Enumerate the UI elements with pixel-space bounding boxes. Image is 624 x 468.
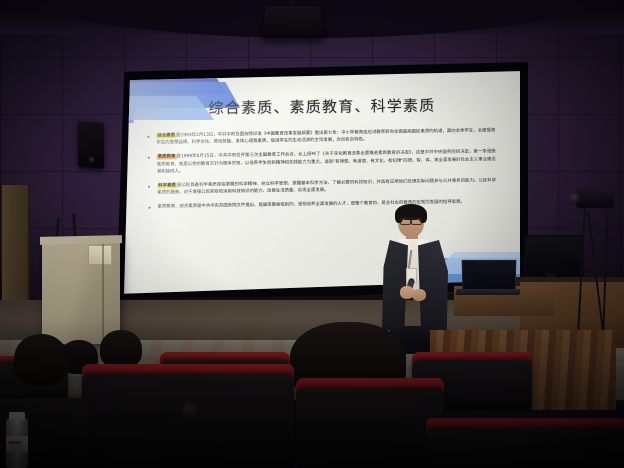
audience-head-far-2 (100, 330, 142, 368)
audience-head-near-1 (14, 334, 68, 386)
water-bottle-label (6, 436, 28, 452)
lectern-top (40, 235, 122, 245)
slide-bullet-3: 科学素质是公民具备科学素质是指掌握的科学精神、树立科学思想、掌握基本科学方法、了… (146, 177, 496, 197)
lectern-edge (102, 244, 104, 344)
seat-near-2 (296, 388, 444, 468)
presenter (376, 206, 450, 348)
slide-keyword-1: 综合素质 (156, 133, 176, 138)
video-camera-lens (570, 193, 580, 204)
seat-near-1 (82, 374, 294, 468)
lecture-hall-photo: 综合素质、素质教育、科学素质 综合素质是1993年2月13日，中共中央及国务院印… (0, 0, 624, 468)
seat-near-3 (426, 428, 624, 468)
slide-bullet-1-text: 是1993年2月13日，中共中央及国务院印发《中国教育改革发展纲要》提出第七条：… (156, 128, 495, 146)
slide-bullet-2: 素质教育是1999年6月15日，中共中央召开第三次全国教育工作会议，会上颁布了《… (146, 149, 496, 176)
left-wall-speaker (78, 121, 104, 169)
slide-keyword-3: 科学素质 (157, 183, 177, 188)
slide-bullet-2-text: 是1999年6月15日，中共中央召开第三次全国教育工作会议，会上颁布了《关于深化… (157, 150, 496, 175)
slide-body: 综合素质是1993年2月13日，中共中央及国务院印发《中国教育改革发展纲要》提出… (145, 127, 496, 218)
projection-screen: 综合素质、素质教育、科学素质 综合素质是1993年2月13日，中共中央及国务院印… (124, 70, 520, 296)
slide-keyword-2: 素质教育 (157, 155, 177, 160)
presenter-jacket-right (418, 240, 448, 332)
glasses-icon (400, 217, 422, 223)
ceiling-speaker (262, 6, 324, 38)
seat-knob-1 (182, 402, 198, 418)
slide-bullet-3-text: 是公民具备科学素质是指掌握的科学精神、树立科学思想、掌握基本科学方法、了解必要的… (157, 178, 496, 196)
slide-title: 综合素质、素质教育、科学素质 (124, 94, 520, 120)
video-camera (576, 188, 614, 208)
water-bottle-cap (9, 412, 25, 420)
laptop-screen (462, 260, 517, 292)
presenter-jacket-left (382, 240, 408, 330)
lectern-name-plate (88, 245, 112, 265)
presenter-hand-right (412, 289, 426, 301)
laptop-base (455, 289, 520, 295)
